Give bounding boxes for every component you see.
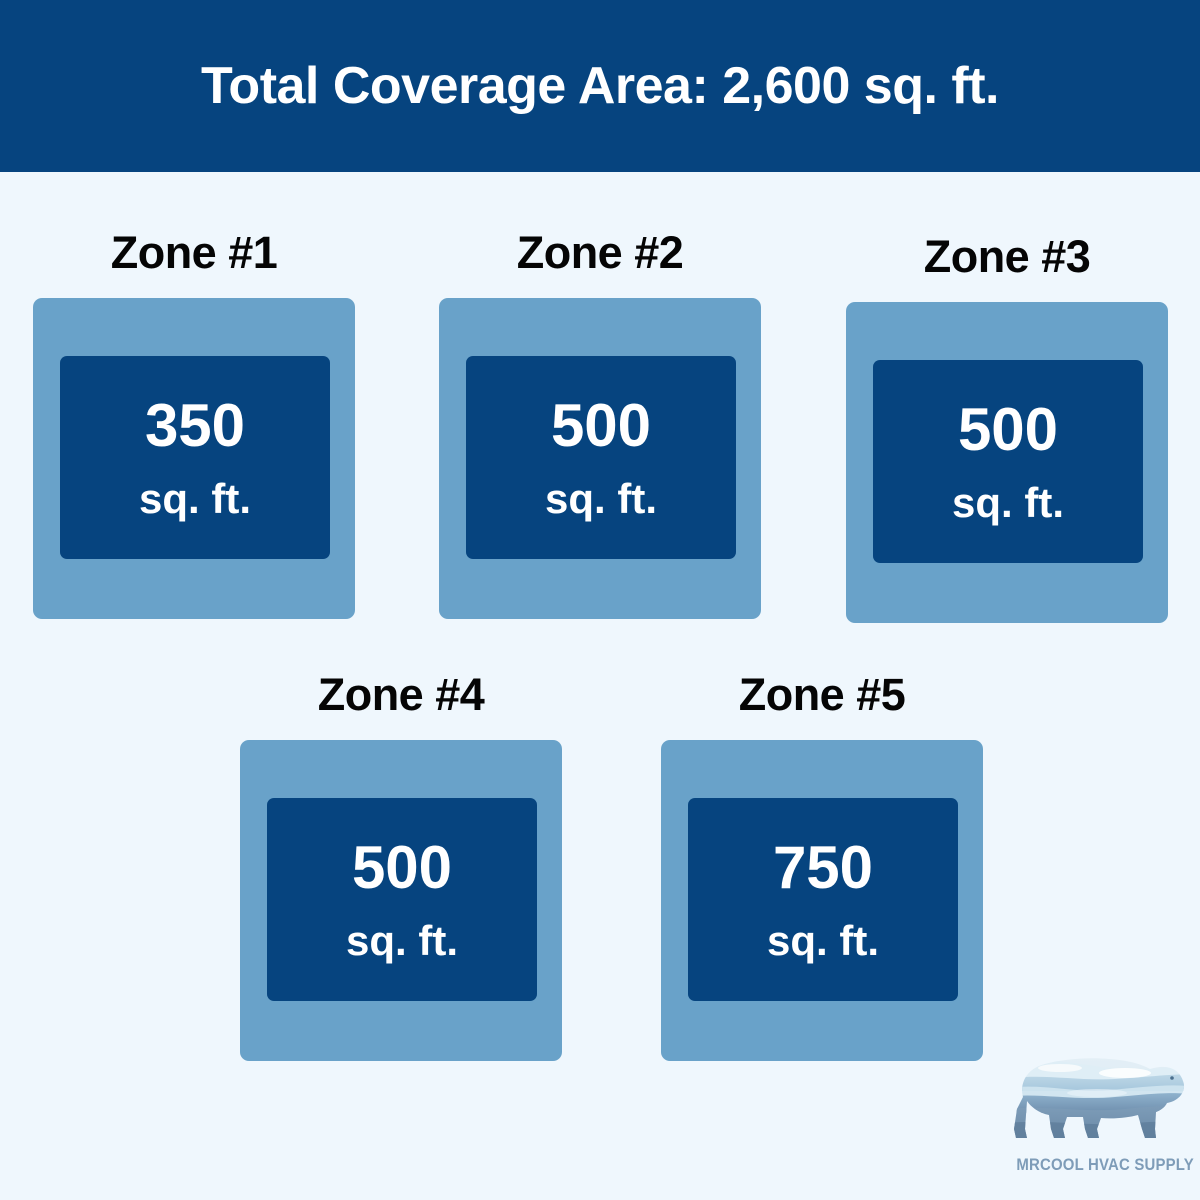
zone-value-3: 500 bbox=[958, 400, 1058, 460]
zone-label-2: Zone #2 bbox=[439, 230, 761, 286]
zone-outer-square-2: 500 sq. ft. bbox=[439, 298, 761, 619]
zone-outer-square-5: 750 sq. ft. bbox=[661, 740, 983, 1061]
zone-label-1: Zone #1 bbox=[33, 230, 355, 286]
zone-inner-panel-5: 750 sq. ft. bbox=[688, 798, 958, 1001]
zone-inner-panel-4: 500 sq. ft. bbox=[267, 798, 537, 1001]
zone-value-1: 350 bbox=[145, 396, 245, 456]
zone-card-5: Zone #5 750 sq. ft. bbox=[661, 672, 983, 1061]
zone-unit-3: sq. ft. bbox=[952, 482, 1064, 524]
zone-card-3: Zone #3 500 sq. ft. bbox=[846, 234, 1168, 623]
brand-logo: MRCOOL HVAC SUPPLY bbox=[1005, 1035, 1195, 1195]
zone-inner-panel-3: 500 sq. ft. bbox=[873, 360, 1143, 563]
zone-unit-5: sq. ft. bbox=[767, 920, 879, 962]
zone-outer-square-1: 350 sq. ft. bbox=[33, 298, 355, 619]
header-banner: Total Coverage Area: 2,600 sq. ft. bbox=[0, 0, 1200, 172]
zone-card-4: Zone #4 500 sq. ft. bbox=[240, 672, 562, 1061]
zone-value-5: 750 bbox=[773, 838, 873, 898]
zone-unit-2: sq. ft. bbox=[545, 478, 657, 520]
zone-outer-square-3: 500 sq. ft. bbox=[846, 302, 1168, 623]
polar-bear-icon bbox=[1005, 1035, 1195, 1157]
zone-inner-panel-1: 350 sq. ft. bbox=[60, 356, 330, 559]
zone-unit-1: sq. ft. bbox=[139, 478, 251, 520]
zone-inner-panel-2: 500 sq. ft. bbox=[466, 356, 736, 559]
zone-label-3: Zone #3 bbox=[846, 234, 1168, 290]
zone-value-2: 500 bbox=[551, 396, 651, 456]
zone-unit-4: sq. ft. bbox=[346, 920, 458, 962]
zone-label-5: Zone #5 bbox=[661, 672, 983, 728]
zone-outer-square-4: 500 sq. ft. bbox=[240, 740, 562, 1061]
zone-label-4: Zone #4 bbox=[240, 672, 562, 728]
page-title: Total Coverage Area: 2,600 sq. ft. bbox=[201, 60, 999, 112]
logo-wordmark: MRCOOL HVAC SUPPLY bbox=[1016, 1155, 1183, 1175]
zone-value-4: 500 bbox=[352, 838, 452, 898]
zone-card-1: Zone #1 350 sq. ft. bbox=[33, 230, 355, 619]
zone-card-2: Zone #2 500 sq. ft. bbox=[439, 230, 761, 619]
